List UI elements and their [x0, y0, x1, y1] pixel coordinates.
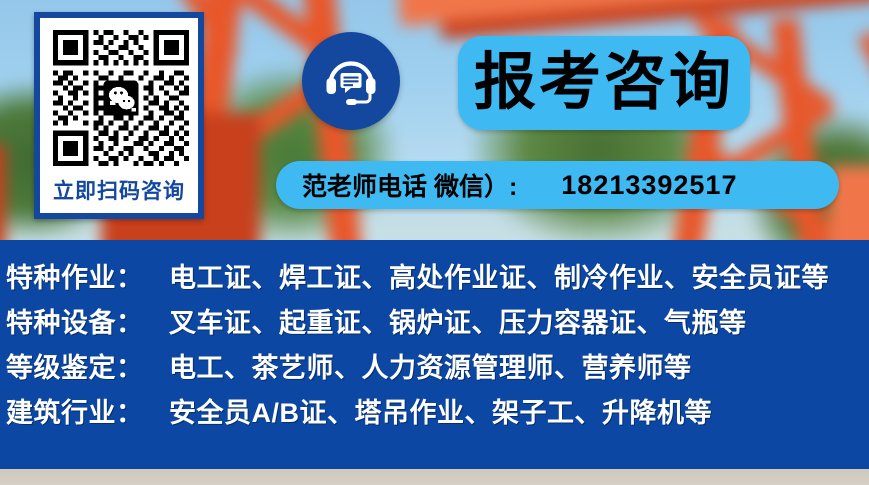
support-headset-badge[interactable] [302, 32, 400, 130]
page-title: 报考咨询 [458, 36, 750, 130]
category-colon: ： [116, 256, 143, 295]
category-row: 特种设备 ： 叉车证、起重证、锅炉证、压力容器证、气瓶等 [6, 301, 869, 346]
category-items: 电工、茶艺师、人力资源管理师、营养师等 [169, 346, 692, 385]
promo-poster: 立即扫码咨询 报考咨询 范老师电话 微信）: 18213392517 [0, 0, 869, 485]
qr-code-card[interactable]: 立即扫码咨询 [34, 12, 204, 219]
category-row: 特种作业 ： 电工证、焊工证、高处作业证、制冷作业、安全员证等 [6, 256, 869, 301]
category-label: 建筑行业 [6, 391, 116, 430]
category-label: 特种设备 [6, 301, 116, 340]
headset-support-icon [323, 53, 379, 109]
category-items: 叉车证、起重证、锅炉证、压力容器证、气瓶等 [169, 301, 747, 340]
certificate-categories-panel: 特种作业 ： 电工证、焊工证、高处作业证、制冷作业、安全员证等 特种设备 ： 叉… [0, 240, 869, 469]
qr-caption: 立即扫码咨询 [40, 173, 198, 211]
contact-phone-pill[interactable]: 范老师电话 微信）: 18213392517 [276, 161, 839, 209]
category-colon: ： [116, 301, 143, 340]
category-colon: ： [116, 346, 143, 385]
category-items: 安全员A/B证、塔吊作业、架子工、升降机等 [169, 391, 712, 430]
contact-phone-number[interactable]: 18213392517 [561, 170, 737, 201]
category-label: 等级鉴定 [6, 346, 116, 385]
qr-code-image[interactable] [48, 24, 194, 172]
category-colon: ： [116, 391, 143, 430]
contact-label: 范老师电话 微信）: [302, 167, 517, 203]
title-pill: 报考咨询 [458, 36, 750, 130]
category-row: 等级鉴定 ： 电工、茶艺师、人力资源管理师、营养师等 [6, 346, 869, 391]
category-label: 特种作业 [6, 256, 116, 295]
qr-code-matrix [48, 24, 194, 172]
category-row: 建筑行业 ： 安全员A/B证、塔吊作业、架子工、升降机等 [6, 391, 869, 436]
category-items: 电工证、焊工证、高处作业证、制冷作业、安全员证等 [169, 256, 829, 295]
